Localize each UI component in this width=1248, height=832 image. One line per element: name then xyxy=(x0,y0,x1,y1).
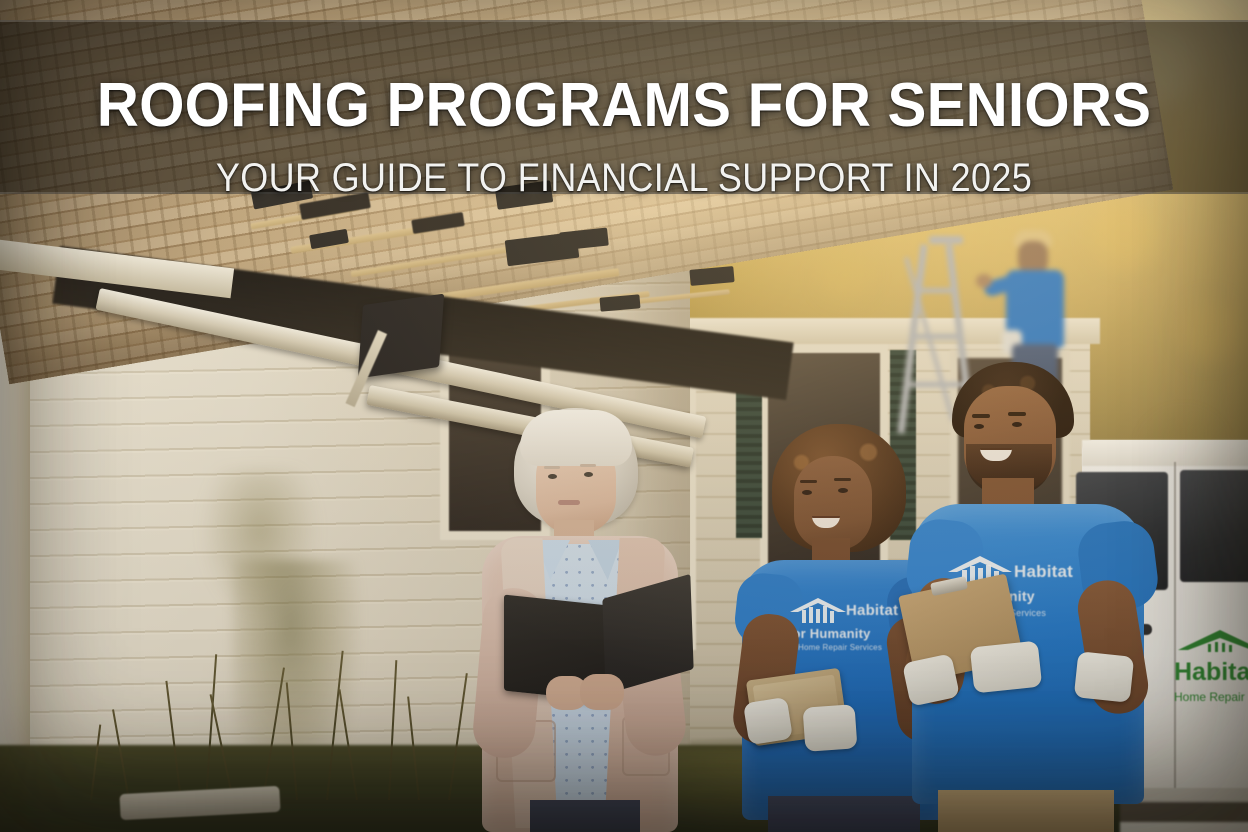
weed xyxy=(262,667,285,800)
van-door-seam xyxy=(1174,462,1176,792)
van-logo-tagline: Home Repair xyxy=(1174,690,1248,704)
work-glove xyxy=(1074,651,1135,703)
volunteer-male-figure: Habitat for Humanity Home Repair Service… xyxy=(920,362,1150,832)
work-glove xyxy=(743,697,793,745)
weed xyxy=(388,660,397,800)
weed xyxy=(205,654,217,800)
habitat-roof-icon xyxy=(1174,628,1248,654)
bokeh-blob xyxy=(820,250,870,300)
homeowner-figure xyxy=(470,408,710,832)
worker-hand xyxy=(976,274,992,288)
volunteer-eye xyxy=(1012,422,1022,427)
homeowner-hair-front xyxy=(520,410,632,466)
homeowner-eye xyxy=(548,474,557,479)
work-glove xyxy=(970,641,1042,694)
volunteer-brow xyxy=(800,480,817,483)
page-subtitle: YOUR GUIDE TO FINANCIAL SUPPORT IN 2025 xyxy=(62,158,1185,198)
van-window-rear xyxy=(1180,470,1248,582)
weed xyxy=(112,709,130,800)
weed xyxy=(338,689,357,800)
weed xyxy=(448,673,468,800)
homeowner-brow xyxy=(544,466,560,469)
work-glove xyxy=(803,704,858,752)
van-logo-text: Habitat xyxy=(1174,660,1248,685)
volunteer-eye xyxy=(974,424,984,429)
homeowner-brow xyxy=(580,464,596,467)
volunteer-brow xyxy=(834,478,851,481)
weed xyxy=(286,682,298,800)
weed xyxy=(407,696,420,800)
volunteer-khaki-pants xyxy=(938,790,1114,832)
weed xyxy=(210,694,234,800)
weed xyxy=(165,681,182,800)
van-logo: Habitat Home Repair xyxy=(1174,628,1248,704)
volunteer-eye xyxy=(802,490,812,495)
shirt-logo-line2: for Humanity xyxy=(788,626,871,641)
weed xyxy=(326,651,344,800)
shirt-logo-line3: Home Repair Services xyxy=(798,643,882,652)
homeowner-eye xyxy=(584,472,593,477)
shirt-logo-line1: Habitat xyxy=(846,602,898,619)
shirt-logo-line1: Habitat xyxy=(1014,562,1073,582)
volunteer-eye xyxy=(838,488,848,493)
band-top-highlight xyxy=(0,20,1248,22)
volunteer-brow xyxy=(1008,412,1026,416)
volunteer-face xyxy=(794,456,872,550)
page-title: ROOFING PROGRAMS FOR SENIORS xyxy=(37,75,1210,137)
homeowner-jeans xyxy=(530,800,640,832)
bokeh-blob xyxy=(1090,200,1158,268)
habitat-shirt-logo: Habitat for Humanity Home Repair Service… xyxy=(788,596,874,631)
weed xyxy=(90,724,101,800)
hero-image: Habitat Home Repair ar ncy xyxy=(0,0,1248,832)
volunteer-jeans xyxy=(768,796,920,832)
volunteer-brow xyxy=(972,414,990,418)
homeowner-mouth xyxy=(558,500,580,505)
homeowner-hand xyxy=(580,674,624,710)
bokeh-blob xyxy=(1180,300,1240,360)
